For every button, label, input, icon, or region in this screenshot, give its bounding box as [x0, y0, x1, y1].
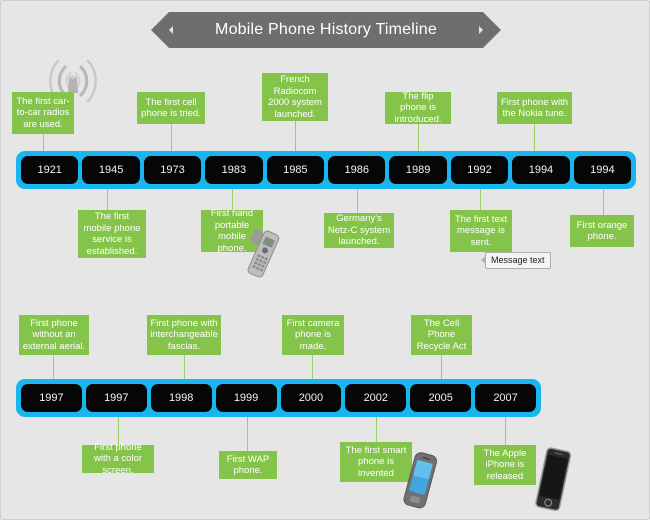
label-text: The Apple iPhone is released — [477, 448, 533, 483]
label-text: First camera phone is made. — [285, 318, 341, 353]
label-above-1973: The first cell phone is tried. — [137, 92, 205, 124]
timeline-cell-year[interactable]: 1997 — [86, 384, 147, 412]
callout-tail-icon — [481, 256, 486, 264]
label-text: First phone with the Nokia tune. — [500, 97, 569, 120]
label-below-1986: Germany's Netz-C system launched. — [324, 213, 394, 248]
label-above-1989: The flip phone is introduced. — [385, 92, 451, 124]
timeline-cell-year[interactable]: 1999 — [216, 384, 277, 412]
label-above-1997a: First phone without an external aerial. — [19, 315, 89, 355]
timeline-cell-year[interactable]: 1986 — [328, 156, 385, 184]
label-text: The first cell phone is tried. — [140, 97, 202, 120]
timeline-cell-year[interactable]: 1994 — [574, 156, 631, 184]
message-text-callout[interactable]: Message text — [485, 252, 551, 269]
label-above-1998: First phone with interchangeable fascias… — [147, 315, 221, 355]
timeline-cell-year[interactable]: 1998 — [151, 384, 212, 412]
timeline-row-2: 1997 1997 1998 1999 2000 2002 2005 2007 — [16, 379, 541, 417]
label-below-1994b: First orange phone. — [570, 215, 634, 247]
label-text: First phone without an external aerial. — [22, 318, 86, 353]
timeline-cell-year[interactable]: 2007 — [475, 384, 536, 412]
callout-label: Message text — [491, 255, 545, 265]
label-text: The first car-to-car radios are used. — [15, 96, 71, 131]
iphone-icon — [529, 447, 575, 513]
label-above-2005: The Cell Phone Recycle Act — [411, 315, 472, 355]
label-text: First phone with interchangeable fascias… — [150, 318, 218, 353]
timeline-row-1: 1921 1945 1973 1983 1985 1986 1989 1992 … — [16, 151, 636, 189]
stem-2000 — [312, 355, 313, 379]
label-below-1945: The first mobile phone service is establ… — [78, 210, 146, 258]
label-text: First orange phone. — [573, 220, 631, 243]
timeline-cell-year[interactable]: 1994 — [512, 156, 569, 184]
label-below-2007: The Apple iPhone is released — [474, 445, 536, 485]
timeline-cell-year[interactable]: 2000 — [281, 384, 342, 412]
stem-1998 — [184, 355, 185, 379]
label-below-1997b: First phone with a color screen. — [82, 445, 154, 473]
label-below-1999: First WAP phone. — [219, 451, 277, 479]
label-below-1992: The first text message is sent. — [450, 210, 512, 252]
timeline-cell-year[interactable]: 1989 — [389, 156, 446, 184]
timeline-cell-year[interactable]: 1983 — [205, 156, 262, 184]
candybar-phone-icon — [241, 229, 285, 281]
label-text: First WAP phone. — [222, 454, 274, 477]
timeline-cell-year[interactable]: 1945 — [82, 156, 139, 184]
timeline-cell-year[interactable]: 1997 — [21, 384, 82, 412]
label-text: The first text message is sent. — [453, 214, 509, 249]
label-text: The first mobile phone service is establ… — [81, 211, 143, 257]
title-banner: Mobile Phone History Timeline — [151, 12, 501, 48]
timeline-cell-year[interactable]: 1992 — [451, 156, 508, 184]
page-title: Mobile Phone History Timeline — [173, 12, 479, 48]
timeline-cell-year[interactable]: 2002 — [345, 384, 406, 412]
label-text: First phone with a color screen. — [85, 442, 151, 477]
label-above-1985: French Radiocom 2000 system launched. — [262, 73, 328, 121]
label-above-1994a: First phone with the Nokia tune. — [497, 92, 572, 124]
stem-2005 — [441, 355, 442, 379]
stem-1997a — [53, 355, 54, 379]
label-above-2000: First camera phone is made. — [282, 315, 344, 355]
label-text: Germany's Netz-C system launched. — [327, 213, 391, 248]
timeline-cell-year[interactable]: 2005 — [410, 384, 471, 412]
label-text: French Radiocom 2000 system launched. — [265, 74, 325, 120]
smartphone-icon — [397, 450, 441, 512]
stem-1999 — [247, 412, 248, 451]
timeline-cell-year[interactable]: 1973 — [144, 156, 201, 184]
label-text: The Cell Phone Recycle Act — [414, 318, 469, 353]
infographic-canvas: Mobile Phone History Timeline — [0, 0, 650, 520]
label-above-1921: The first car-to-car radios are used. — [12, 92, 74, 134]
timeline-cell-year[interactable]: 1985 — [267, 156, 324, 184]
timeline-cell-year[interactable]: 1921 — [21, 156, 78, 184]
label-text: The flip phone is introduced. — [388, 91, 448, 126]
